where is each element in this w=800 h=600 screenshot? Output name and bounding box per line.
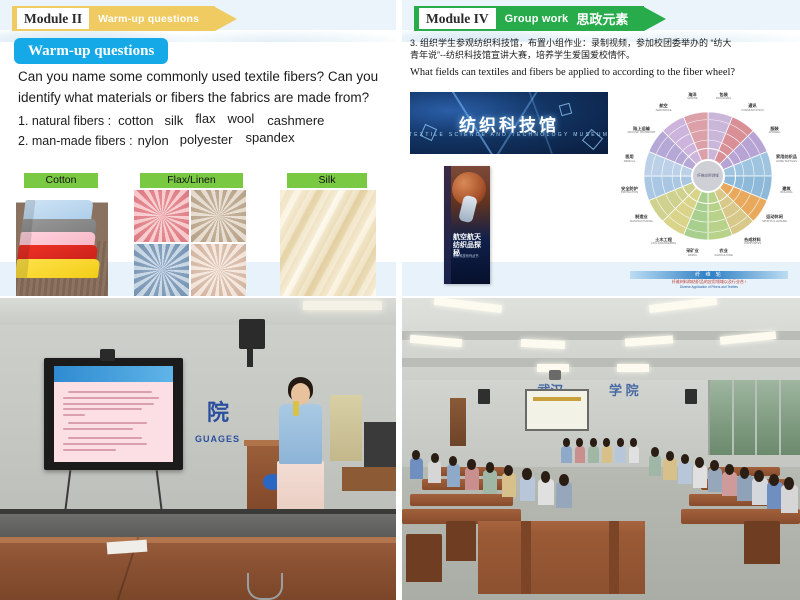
wheel-caption-bar: 纤 维 轮 <box>630 271 788 279</box>
panel-divider-vertical <box>396 0 402 600</box>
audience-person <box>575 446 585 463</box>
museum-title-en: TEXTILE SCIENCE AND TECHNOLOGY MUSEUM <box>410 132 608 138</box>
slide-header-bar <box>54 366 174 381</box>
aerospace-textile-book-cover: 航空航天纺织品探秘 纺织科技系列丛书 <box>444 166 490 284</box>
slide-collage-page: Module II Warm-up questions Warm-up ques… <box>0 0 800 600</box>
natural-fibers-line: 1. natural fibers : cotton silk flax woo… <box>18 113 386 128</box>
slide-module-2: Module II Warm-up questions Warm-up ques… <box>0 0 396 296</box>
book-spine <box>444 166 451 284</box>
wheel-label-16: 海洋MARINE <box>676 93 708 101</box>
wheel-center-label: 纤维应用领域 <box>693 174 723 179</box>
cotton-fabric-stack-photo <box>16 190 108 296</box>
cn-paragraph-line-1: 3. 组织学生参观纺织科技馆，布置小组作业：录制视频，参加校团委举办的 “纺大 <box>410 38 792 50</box>
ribbon-arrow-tail <box>644 7 666 31</box>
manmade-fibers-line: 2. man-made fibers : nylon polyester spa… <box>18 133 386 148</box>
wheel-label-12: 安全防护PROTECTION <box>614 187 646 195</box>
presenter-skirt <box>277 461 325 515</box>
chinese-task-paragraph: 3. 组织学生参观纺织科技馆，布置小组作业：录制视频，参加校团委举办的 “纺大 … <box>410 38 792 61</box>
wheel-label-13: 医用MEDICAL <box>614 155 646 163</box>
panel-divider-horizontal <box>0 296 800 298</box>
english-question: What fields can textiles and fibers be a… <box>410 66 792 80</box>
slide-text-line <box>68 391 152 393</box>
fiber-word-silk: silk <box>165 113 184 128</box>
slide-text-line <box>63 443 147 445</box>
audience-head <box>617 438 624 446</box>
audience-head <box>784 477 794 490</box>
audience-person <box>649 455 662 476</box>
audience-person <box>561 446 571 463</box>
ceiling <box>402 298 800 389</box>
fabric-label-silk: Silk <box>287 173 367 188</box>
wall-logo-character: 院 <box>207 395 229 427</box>
wheel-label-1: 包装PACKAGING <box>708 93 740 101</box>
ribbon-title-en: Group work <box>505 13 569 25</box>
chair <box>406 534 442 582</box>
flax-linen-swatches-photo <box>134 190 246 296</box>
audience-head <box>522 468 531 479</box>
audience-person <box>678 462 692 485</box>
textile-museum-banner: 纺织科技馆 TEXTILE SCIENCE AND TECHNOLOGY MUS… <box>410 92 608 154</box>
slide-text-line <box>63 449 116 451</box>
wheel-label-7: 合成材料COMPOSITES <box>736 238 768 246</box>
wall-logo-subtext: GUAGES <box>195 434 240 444</box>
audience-head <box>590 438 597 446</box>
chair-back <box>247 573 283 600</box>
audience-person <box>428 461 441 483</box>
side-desk <box>342 467 398 491</box>
wheel-label-4: 家用纺织品HOME TEXTILES <box>770 155 800 163</box>
silk-drape-photo <box>280 190 376 296</box>
wall-speaker <box>239 319 265 349</box>
window-mullion <box>732 380 734 456</box>
classroom-scene: 院 GUAGES <box>0 298 398 600</box>
wheel-caption-en: Diverse Application of Fibers and Textil… <box>630 285 788 290</box>
window-mullion <box>755 380 757 456</box>
wheel-label-6: 运动休闲SPORTS & LEISURE <box>759 215 791 223</box>
wheel-label-15: 航空AEROSPACE <box>648 104 680 112</box>
wall-speaker <box>478 389 490 404</box>
audience-head <box>666 451 674 461</box>
microphone <box>293 401 299 416</box>
audience-person <box>447 464 461 486</box>
fabric-label-flax-linen: Flax/Linen <box>140 173 243 188</box>
book-subtitle-cn: 纺织科技系列丛书 <box>453 254 487 258</box>
lecture-hall-audience-photo: 武汉 学 院 <box>402 298 800 600</box>
audience-person <box>602 446 612 463</box>
slide-text-line <box>63 403 154 405</box>
audience-person <box>663 458 676 480</box>
audience-head <box>740 467 750 479</box>
audience-head <box>563 438 570 446</box>
slide-text-line <box>68 437 142 439</box>
audience-person <box>693 465 707 488</box>
warmup-questions-badge: Warm-up questions <box>14 38 168 64</box>
audience-head <box>651 447 659 457</box>
wooden-cabinet <box>330 395 362 461</box>
question-block: Can you name some commonly used textile … <box>18 66 386 148</box>
fold-yellow <box>16 259 100 278</box>
audience-head <box>467 459 476 470</box>
swatch-blue <box>134 244 189 296</box>
chair <box>446 521 476 560</box>
speaker-bracket <box>247 349 253 367</box>
module-ribbon-yellow: Module II Warm-up questions <box>8 6 237 31</box>
wheel-label-10: 土木工程CIVIL ENGINEERING <box>648 238 680 246</box>
fluorescent-tube <box>617 364 649 372</box>
triangle-decoration-icon <box>559 103 572 116</box>
audience-table <box>410 494 513 506</box>
table-edge <box>0 537 398 543</box>
projector <box>549 370 561 379</box>
fiber-word-flax: flax <box>195 111 215 126</box>
audience-person <box>752 478 768 504</box>
projection-screen <box>525 389 589 431</box>
wheel-hub: 纤维应用领域 <box>691 159 725 193</box>
window-wall <box>708 380 800 456</box>
ribbon-body: Module IV Group work 思政元素 <box>414 6 644 31</box>
ribbon-body: Module II Warm-up questions <box>12 6 215 31</box>
wheel-label-3: 服装APPAREL <box>759 127 791 135</box>
module-number-chip: Module IV <box>419 8 496 29</box>
audience-person <box>588 446 598 463</box>
table-leg <box>609 521 619 593</box>
display-screen <box>54 366 174 462</box>
wheel-label-2: 通讯COMMUNICATION <box>736 104 768 112</box>
audience-head <box>431 453 439 463</box>
audience-person <box>708 468 723 492</box>
question-line-2: identify what materials or fibers the fa… <box>18 87 386 108</box>
door <box>450 398 466 446</box>
fiber-word-nylon: nylon <box>138 133 169 148</box>
slide-text-line <box>63 414 85 416</box>
fiber-word-cotton: cotton <box>118 113 153 128</box>
slide-text-line <box>68 422 147 424</box>
module-number-chip: Module II <box>17 8 89 29</box>
slide-text-line <box>63 428 132 430</box>
wheel-label-5: 建筑BUILDING <box>770 187 800 195</box>
wheel-label-9: 采矿业MINING <box>676 249 708 257</box>
display-screen-frame <box>44 358 183 470</box>
fiber-word-cashmere: cashmere <box>267 113 324 128</box>
audience-person <box>629 446 639 463</box>
audience-person <box>737 475 752 501</box>
slide-module-4: Module IV Group work 思政元素 3. 组织学生参观纺织科技馆… <box>402 0 800 296</box>
fiber-application-wheel-diagram: 纤维应用领域 包装PACKAGING通讯COMMUNICATION服装APPAR… <box>620 96 796 292</box>
flax-grid <box>134 190 246 296</box>
presenter-torso <box>279 404 323 464</box>
audience-head <box>559 474 569 486</box>
audience-person <box>722 472 737 497</box>
wall-logo-right: 学 院 <box>609 380 639 399</box>
swatch-nude <box>191 244 246 296</box>
equipment-rack <box>364 422 396 470</box>
audience-person <box>410 458 423 479</box>
wheel-caption: 纤 维 轮 纤维材料和纺织品的应用领域以及行业合 ! Diverse Appli… <box>630 271 788 290</box>
front-table <box>0 537 398 600</box>
audience-head <box>576 438 583 446</box>
wheel-label-14: 陆上运输GROUND TRANSPORT <box>625 127 657 135</box>
slide-text-line <box>63 408 142 410</box>
table-leg <box>521 521 531 593</box>
ribbon-title: Warm-up questions <box>98 13 199 25</box>
window-mullion <box>779 380 781 456</box>
projected-content <box>533 397 581 400</box>
ceiling-light <box>303 301 383 310</box>
audience-head <box>695 457 704 468</box>
wall-speaker <box>685 389 697 404</box>
screen-camera <box>100 349 116 361</box>
wheel-label-8: 农业AGRICULTURE <box>708 249 740 257</box>
ribbon-title-cn: 思政元素 <box>576 9 628 28</box>
swatch-pink <box>134 190 189 242</box>
fabric-label-cotton: Cotton <box>24 173 98 188</box>
cotton-illustration <box>16 190 108 296</box>
audience-head <box>603 438 610 446</box>
cn-paragraph-line-2: 青年说”--纺织科技馆宣讲大赛，培养学生爱国爱校情怀。 <box>410 50 792 62</box>
audience-person <box>483 470 497 494</box>
center-table <box>478 521 645 593</box>
fiber-word-wool: wool <box>228 111 255 126</box>
slide-text-line <box>63 397 159 399</box>
fiber-word-spandex: spandex <box>245 130 294 145</box>
fiber-word-polyester: polyester <box>180 132 233 147</box>
chair <box>744 521 780 563</box>
audience-person <box>556 482 572 508</box>
swatch-tan <box>191 190 246 242</box>
fabric-samples-zone: Cotton Flax/Linen Silk <box>0 170 396 296</box>
lecture-hall-scene: 武汉 学 院 <box>402 298 800 600</box>
natural-fibers-label: 1. natural fibers : <box>18 114 111 128</box>
classroom-presentation-photo: 院 GUAGES <box>0 298 398 600</box>
audience-person <box>465 467 479 490</box>
audience-person <box>520 476 535 501</box>
manmade-fibers-label: 2. man-made fibers : <box>18 134 133 148</box>
silk-illustration <box>280 190 376 296</box>
audience-head <box>541 471 551 483</box>
audience-person <box>538 479 553 505</box>
audience-person <box>502 473 517 497</box>
wheel-sectors: 纤维应用领域 <box>644 112 772 240</box>
ceiling-beam <box>402 358 800 367</box>
wheel-label-11: 制造业MANUFACTURING <box>625 215 657 223</box>
module-ribbon-green: Module IV Group work 思政元素 <box>410 6 666 31</box>
question-line-1: Can you name some commonly used textile … <box>18 66 386 87</box>
audience-head <box>630 438 637 446</box>
audience-person <box>615 446 625 463</box>
ribbon-arrow-tail <box>215 7 237 31</box>
